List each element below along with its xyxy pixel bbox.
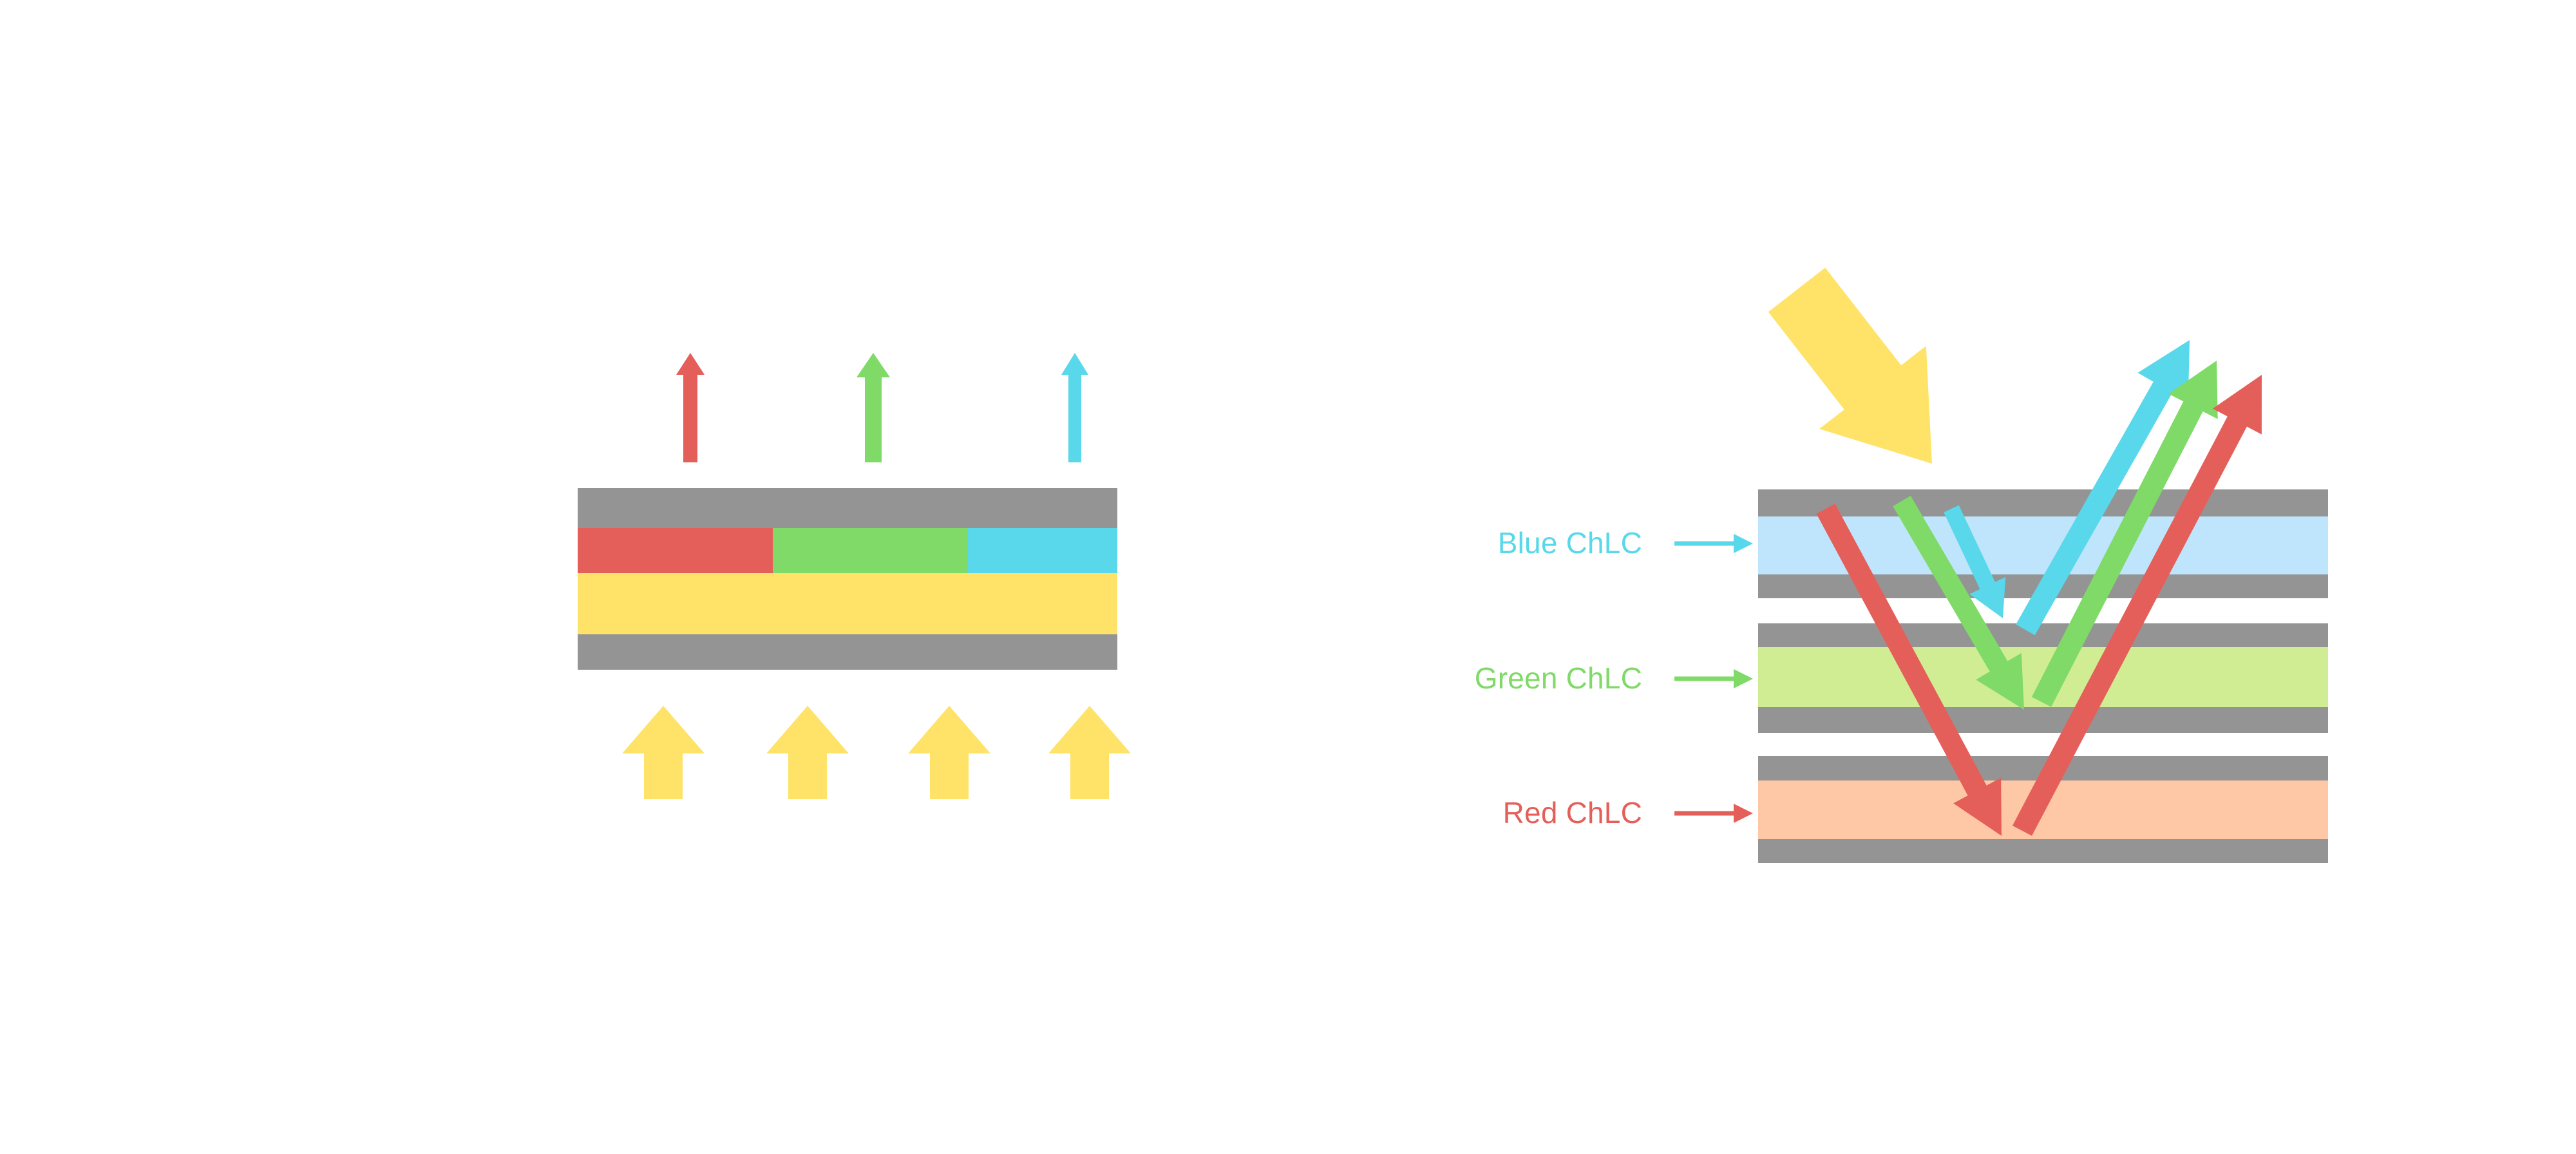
- incident-white-light-arrow: [1768, 268, 1932, 464]
- blue-chlc-label: Blue ChLC: [0, 525, 1642, 560]
- green-chlc-top-electrode: [1758, 623, 2328, 647]
- red-chlc-label-arrowhead-icon: [1734, 804, 1753, 823]
- blue-chlc-label-arrowhead-icon: [1734, 534, 1753, 553]
- label-leader-arrows: [1674, 534, 1753, 823]
- right-panel-group: [0, 0, 2576, 1154]
- green-chlc-label-arrowhead-icon: [1734, 669, 1753, 688]
- blue-chlc-top-electrode: [1758, 489, 2328, 516]
- incident-arrow-group: [1768, 268, 1932, 464]
- diagram-canvas: Blue ChLCGreen ChLCRed ChLC: [0, 0, 2576, 1154]
- red-chlc-label: Red ChLC: [0, 795, 1642, 830]
- green-chlc-bottom-electrode: [1758, 707, 2328, 733]
- red-chlc-bottom-electrode: [1758, 839, 2328, 863]
- green-chlc-label: Green ChLC: [0, 661, 1642, 695]
